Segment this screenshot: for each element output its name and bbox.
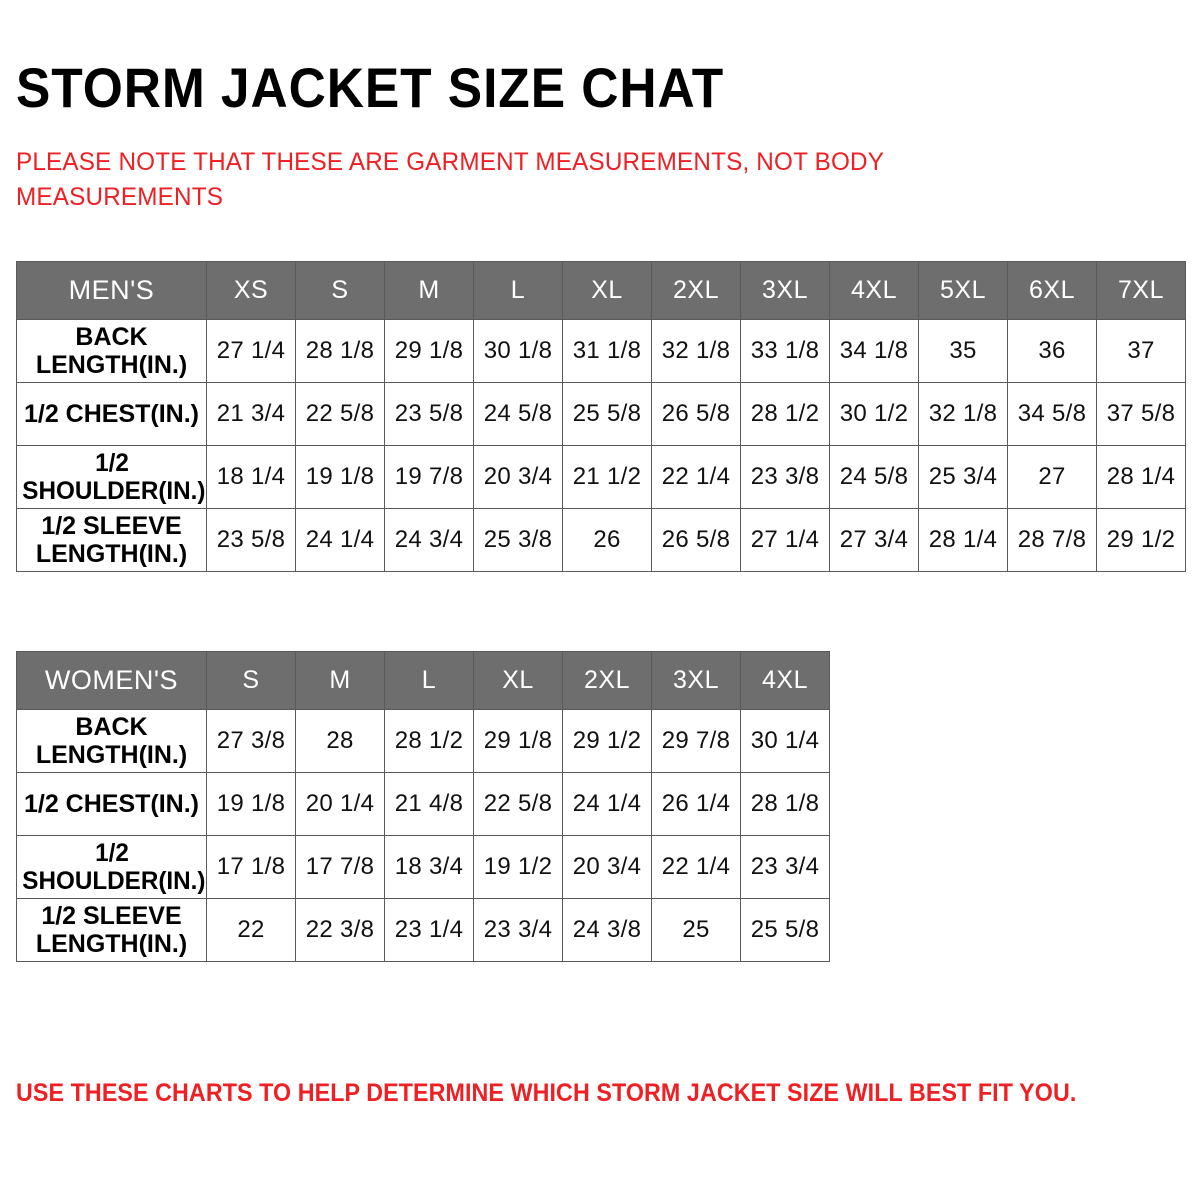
womens-table-corner-label: WOMEN'S bbox=[17, 652, 207, 710]
womens-table-head: WOMEN'SSMLXL2XL3XL4XL bbox=[17, 652, 830, 710]
measurement-cell: 20 1/4 bbox=[296, 773, 385, 836]
mens-size-header-xl: XL bbox=[563, 262, 652, 320]
table-row: 1/2 CHEST(IN.)19 1/820 1/421 4/822 5/824… bbox=[17, 773, 830, 836]
measurement-cell: 23 5/8 bbox=[207, 509, 296, 572]
mens-size-header-l: L bbox=[474, 262, 563, 320]
womens-row-label-1: 1/2 CHEST(IN.) bbox=[17, 773, 207, 836]
measurement-cell: 25 5/8 bbox=[741, 899, 830, 962]
measurement-cell: 22 bbox=[207, 899, 296, 962]
measurement-cell: 28 1/4 bbox=[1097, 446, 1186, 509]
measurement-cell: 29 1/8 bbox=[474, 710, 563, 773]
table-row: BACK LENGTH(IN.)27 3/82828 1/229 1/829 1… bbox=[17, 710, 830, 773]
mens-size-table: MEN'SXSSMLXL2XL3XL4XL5XL6XL7XL BACK LENG… bbox=[16, 261, 1186, 572]
measurement-cell: 34 5/8 bbox=[1008, 383, 1097, 446]
measurement-cell: 19 1/8 bbox=[296, 446, 385, 509]
page-title: STORM JACKET SIZE CHAT bbox=[16, 60, 724, 116]
table-row: 1/2 SLEEVE LENGTH(IN.)2222 3/823 1/423 3… bbox=[17, 899, 830, 962]
mens-size-header-6xl: 6XL bbox=[1008, 262, 1097, 320]
measurement-cell: 18 1/4 bbox=[207, 446, 296, 509]
measurement-cell: 30 1/8 bbox=[474, 320, 563, 383]
mens-table-head: MEN'SXSSMLXL2XL3XL4XL5XL6XL7XL bbox=[17, 262, 1186, 320]
womens-size-header-3xl: 3XL bbox=[652, 652, 741, 710]
table-row: 1/2 CHEST(IN.)21 3/422 5/823 5/824 5/825… bbox=[17, 383, 1186, 446]
womens-row-label-0: BACK LENGTH(IN.) bbox=[17, 710, 207, 773]
mens-table-body: BACK LENGTH(IN.)27 1/428 1/829 1/830 1/8… bbox=[17, 320, 1186, 572]
measurement-cell: 29 1/2 bbox=[563, 710, 652, 773]
measurement-cell: 24 3/8 bbox=[563, 899, 652, 962]
measurement-cell: 28 1/2 bbox=[741, 383, 830, 446]
measurement-cell: 28 1/8 bbox=[296, 320, 385, 383]
table-row: 1/2 SHOULDER(IN.)18 1/419 1/819 7/820 3/… bbox=[17, 446, 1186, 509]
measurement-cell: 34 1/8 bbox=[830, 320, 919, 383]
mens-size-header-7xl: 7XL bbox=[1097, 262, 1186, 320]
garment-measurement-note: PLEASE NOTE THAT THESE ARE GARMENT MEASU… bbox=[16, 145, 986, 214]
mens-size-header-xs: XS bbox=[207, 262, 296, 320]
measurement-cell: 30 1/2 bbox=[830, 383, 919, 446]
measurement-cell: 35 bbox=[919, 320, 1008, 383]
mens-row-label-2: 1/2 SHOULDER(IN.) bbox=[19, 446, 203, 509]
mens-size-header-s: S bbox=[296, 262, 385, 320]
measurement-cell: 37 bbox=[1097, 320, 1186, 383]
measurement-cell: 25 3/4 bbox=[919, 446, 1008, 509]
measurement-cell: 27 bbox=[1008, 446, 1097, 509]
measurement-cell: 32 1/8 bbox=[919, 383, 1008, 446]
measurement-cell: 21 4/8 bbox=[385, 773, 474, 836]
measurement-cell: 23 3/8 bbox=[741, 446, 830, 509]
measurement-cell: 32 1/8 bbox=[652, 320, 741, 383]
measurement-cell: 28 1/8 bbox=[741, 773, 830, 836]
measurement-cell: 24 3/4 bbox=[385, 509, 474, 572]
measurement-cell: 20 3/4 bbox=[563, 836, 652, 899]
size-guidance-note: USE THESE CHARTS TO HELP DETERMINE WHICH… bbox=[16, 1077, 1095, 1110]
womens-size-header-2xl: 2XL bbox=[563, 652, 652, 710]
measurement-cell: 31 1/8 bbox=[563, 320, 652, 383]
measurement-cell: 33 1/8 bbox=[741, 320, 830, 383]
measurement-cell: 27 3/4 bbox=[830, 509, 919, 572]
measurement-cell: 23 5/8 bbox=[385, 383, 474, 446]
measurement-cell: 26 5/8 bbox=[652, 383, 741, 446]
measurement-cell: 21 1/2 bbox=[563, 446, 652, 509]
measurement-cell: 36 bbox=[1008, 320, 1097, 383]
measurement-cell: 24 5/8 bbox=[830, 446, 919, 509]
measurement-cell: 25 3/8 bbox=[474, 509, 563, 572]
size-chart-page: STORM JACKET SIZE CHAT PLEASE NOTE THAT … bbox=[0, 0, 1200, 1200]
measurement-cell: 24 1/4 bbox=[563, 773, 652, 836]
measurement-cell: 29 1/2 bbox=[1097, 509, 1186, 572]
measurement-cell: 29 7/8 bbox=[652, 710, 741, 773]
mens-size-header-2xl: 2XL bbox=[652, 262, 741, 320]
table-row: BACK LENGTH(IN.)27 1/428 1/829 1/830 1/8… bbox=[17, 320, 1186, 383]
measurement-cell: 22 3/8 bbox=[296, 899, 385, 962]
womens-size-header-l: L bbox=[385, 652, 474, 710]
measurement-cell: 22 1/4 bbox=[652, 836, 741, 899]
mens-row-label-1: 1/2 CHEST(IN.) bbox=[17, 383, 207, 446]
mens-row-label-0: BACK LENGTH(IN.) bbox=[17, 320, 207, 383]
mens-size-header-5xl: 5XL bbox=[919, 262, 1008, 320]
measurement-cell: 23 3/4 bbox=[474, 899, 563, 962]
mens-row-label-3: 1/2 SLEEVE LENGTH(IN.) bbox=[17, 509, 207, 572]
measurement-cell: 22 5/8 bbox=[474, 773, 563, 836]
measurement-cell: 26 bbox=[563, 509, 652, 572]
measurement-cell: 26 5/8 bbox=[652, 509, 741, 572]
measurement-cell: 17 7/8 bbox=[296, 836, 385, 899]
measurement-cell: 30 1/4 bbox=[741, 710, 830, 773]
measurement-cell: 26 1/4 bbox=[652, 773, 741, 836]
measurement-cell: 19 1/8 bbox=[207, 773, 296, 836]
measurement-cell: 27 1/4 bbox=[207, 320, 296, 383]
measurement-cell: 27 3/8 bbox=[207, 710, 296, 773]
table-row: 1/2 SLEEVE LENGTH(IN.)23 5/824 1/424 3/4… bbox=[17, 509, 1186, 572]
womens-size-header-s: S bbox=[207, 652, 296, 710]
measurement-cell: 28 1/2 bbox=[385, 710, 474, 773]
table-row: 1/2 SHOULDER(IN.)17 1/817 7/818 3/419 1/… bbox=[17, 836, 830, 899]
measurement-cell: 29 1/8 bbox=[385, 320, 474, 383]
measurement-cell: 22 5/8 bbox=[296, 383, 385, 446]
measurement-cell: 19 7/8 bbox=[385, 446, 474, 509]
measurement-cell: 28 7/8 bbox=[1008, 509, 1097, 572]
measurement-cell: 22 1/4 bbox=[652, 446, 741, 509]
womens-header-row: WOMEN'SSMLXL2XL3XL4XL bbox=[17, 652, 830, 710]
mens-size-header-m: M bbox=[385, 262, 474, 320]
mens-table-corner-label: MEN'S bbox=[17, 262, 207, 320]
measurement-cell: 18 3/4 bbox=[385, 836, 474, 899]
measurement-cell: 17 1/8 bbox=[207, 836, 296, 899]
measurement-cell: 23 1/4 bbox=[385, 899, 474, 962]
measurement-cell: 28 1/4 bbox=[919, 509, 1008, 572]
womens-size-table: WOMEN'SSMLXL2XL3XL4XL BACK LENGTH(IN.)27… bbox=[16, 651, 830, 962]
mens-header-row: MEN'SXSSMLXL2XL3XL4XL5XL6XL7XL bbox=[17, 262, 1186, 320]
measurement-cell: 24 1/4 bbox=[296, 509, 385, 572]
measurement-cell: 27 1/4 bbox=[741, 509, 830, 572]
womens-table-body: BACK LENGTH(IN.)27 3/82828 1/229 1/829 1… bbox=[17, 710, 830, 962]
measurement-cell: 25 bbox=[652, 899, 741, 962]
measurement-cell: 19 1/2 bbox=[474, 836, 563, 899]
measurement-cell: 28 bbox=[296, 710, 385, 773]
mens-size-header-3xl: 3XL bbox=[741, 262, 830, 320]
womens-size-header-4xl: 4XL bbox=[741, 652, 830, 710]
mens-size-header-4xl: 4XL bbox=[830, 262, 919, 320]
womens-size-header-m: M bbox=[296, 652, 385, 710]
womens-size-header-xl: XL bbox=[474, 652, 563, 710]
measurement-cell: 23 3/4 bbox=[741, 836, 830, 899]
measurement-cell: 24 5/8 bbox=[474, 383, 563, 446]
measurement-cell: 37 5/8 bbox=[1097, 383, 1186, 446]
womens-row-label-3: 1/2 SLEEVE LENGTH(IN.) bbox=[17, 899, 207, 962]
measurement-cell: 21 3/4 bbox=[207, 383, 296, 446]
womens-row-label-2: 1/2 SHOULDER(IN.) bbox=[19, 836, 203, 899]
measurement-cell: 25 5/8 bbox=[563, 383, 652, 446]
measurement-cell: 20 3/4 bbox=[474, 446, 563, 509]
